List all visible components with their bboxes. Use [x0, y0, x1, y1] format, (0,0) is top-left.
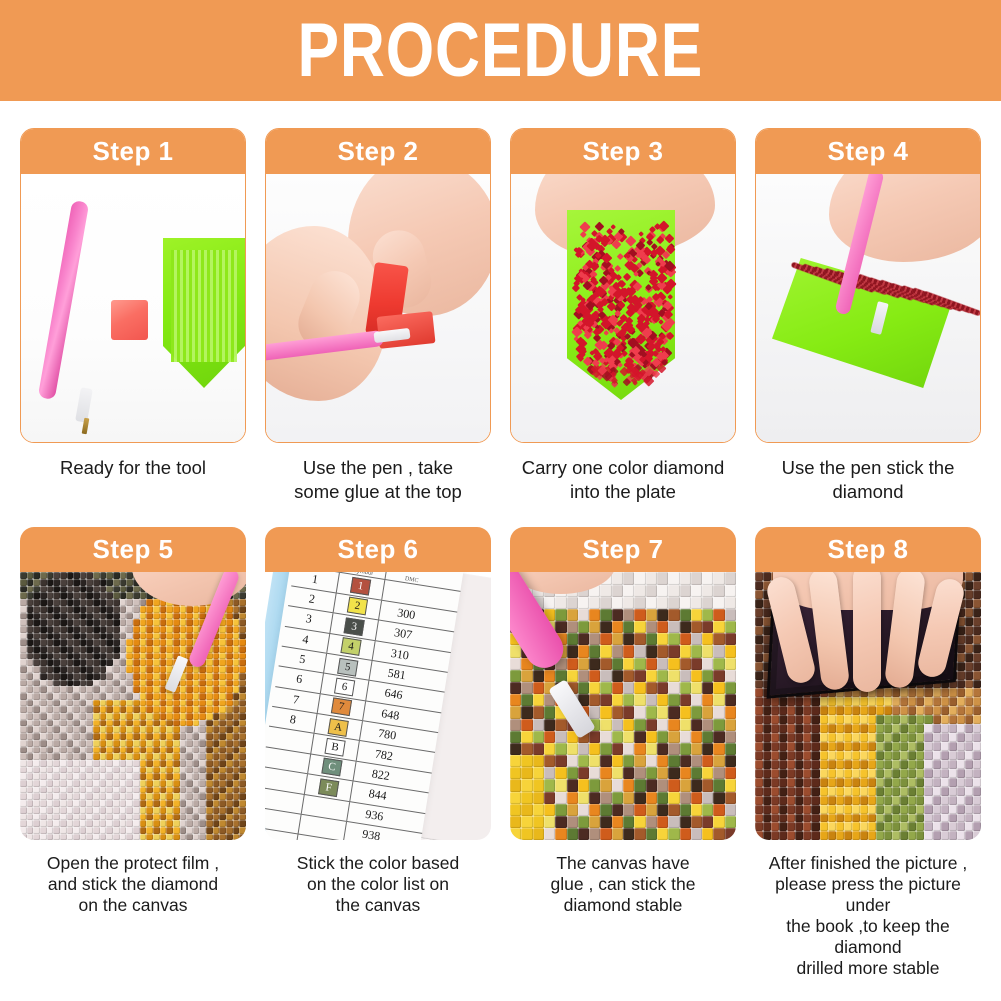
step-3-illustration: [511, 174, 735, 442]
chart-symbol-swatch: C: [321, 758, 342, 777]
step-card-8[interactable]: Step 8 After finished the picture , plea…: [755, 527, 981, 979]
stick-on-canvas-photo: [20, 572, 246, 840]
step-1-illustration: [21, 174, 245, 442]
step-7-caption: The canvas have glue , can stick the dia…: [510, 853, 736, 916]
step-3-caption: Carry one color diamond into the plate: [510, 456, 736, 503]
diamond-rows-group: [786, 266, 936, 376]
step-card-6[interactable]: Step 6 SerialSymbolDMC112230033307443105…: [265, 527, 491, 979]
step-1-header: Step 1: [21, 129, 245, 174]
step-8-illustration: [755, 572, 981, 840]
step-8-card: Step 8: [755, 527, 981, 840]
chart-symbol-swatch: 2: [347, 597, 368, 616]
step-4-illustration: [756, 174, 980, 442]
step-5-header: Step 5: [20, 527, 246, 572]
tool-kit-photo: [21, 174, 245, 442]
step-card-4[interactable]: Step 4 Use the pen stick the diamond: [755, 128, 981, 503]
red-diamonds-group: [511, 174, 735, 442]
pen-glue-photo: [266, 174, 490, 442]
step-card-5[interactable]: Step 5 Open the protect film , and stick…: [20, 527, 246, 979]
step-1-card: Step 1: [20, 128, 246, 443]
step-4-caption: Use the pen stick the diamond: [755, 456, 981, 503]
step-card-2[interactable]: Step 2 Use the pen , take some glue at t…: [265, 128, 491, 503]
step-4-header: Step 4: [756, 129, 980, 174]
press-with-book-photo: [755, 572, 981, 840]
step-6-card: Step 6 SerialSymbolDMC112230033307443105…: [265, 527, 491, 840]
step-6-illustration: SerialSymbolDMC1122300333074431055581666…: [265, 572, 491, 840]
chart-symbol-swatch: 3: [344, 618, 365, 637]
glue-canvas-photo: [510, 572, 736, 840]
steps-grid: Step 1 Ready for the tool Step 2: [0, 128, 1001, 979]
chart-symbol-swatch: 4: [340, 638, 361, 657]
step-8-caption: After finished the picture , please pres…: [755, 853, 981, 979]
page-title: PROCEDURE: [298, 13, 704, 89]
chart-symbol-swatch: F: [318, 779, 339, 798]
step-3-header: Step 3: [511, 129, 735, 174]
step-8-header: Step 8: [755, 527, 981, 572]
step-5-caption: Open the protect film , and stick the di…: [20, 853, 246, 916]
tray-grooves: [171, 250, 237, 362]
chart-symbol-swatch: A: [328, 718, 349, 737]
step-2-card: Step 2: [265, 128, 491, 443]
step-5-illustration: [20, 572, 246, 840]
pink-pen-icon: [38, 200, 89, 400]
steps-row-top: Step 1 Ready for the tool Step 2: [0, 128, 1001, 503]
step-7-card: Step 7: [510, 527, 736, 840]
diamonds-in-tray-photo: [511, 174, 735, 442]
step-card-3[interactable]: Step 3 Carry one color diamond into the …: [510, 128, 736, 503]
finger-icon: [853, 572, 881, 692]
step-card-1[interactable]: Step 1 Ready for the tool: [20, 128, 246, 503]
step-4-card: Step 4: [755, 128, 981, 443]
step-2-illustration: [266, 174, 490, 442]
step-7-illustration: [510, 572, 736, 840]
step-5-card: Step 5: [20, 527, 246, 840]
pick-diamond-photo: [756, 174, 980, 442]
steps-row-bottom: Step 5 Open the protect film , and stick…: [0, 527, 1001, 979]
step-3-card: Step 3: [510, 128, 736, 443]
step-6-caption: Stick the color based on the color list …: [265, 853, 491, 916]
chart-symbol-swatch: 1: [350, 577, 371, 596]
chart-symbol-swatch: B: [324, 738, 345, 757]
page-banner: PROCEDURE: [0, 0, 1001, 101]
chart-symbol-swatch: 7: [331, 698, 352, 717]
step-7-header: Step 7: [510, 527, 736, 572]
step-2-header: Step 2: [266, 129, 490, 174]
color-list-photo: SerialSymbolDMC1122300333074431055581666…: [265, 572, 491, 840]
glue-square-icon: [111, 300, 148, 340]
step-6-header: Step 6: [265, 527, 491, 572]
step-card-7[interactable]: Step 7 The canvas have glue , can stick …: [510, 527, 736, 979]
step-1-caption: Ready for the tool: [20, 456, 246, 480]
chart-symbol-swatch: 6: [334, 678, 355, 697]
step-2-caption: Use the pen , take some glue at the top: [265, 456, 491, 503]
chart-symbol-swatch: 5: [337, 658, 358, 677]
